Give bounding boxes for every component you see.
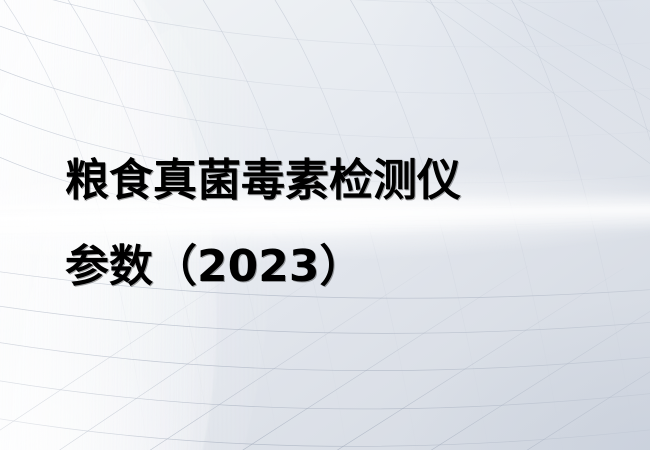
title-line-2: 参数（2023）	[65, 224, 585, 310]
promo-banner: 粮食真菌毒素检测仪 参数（2023）	[0, 0, 650, 450]
title-line-1: 粮食真菌毒素检测仪	[65, 138, 585, 224]
banner-title: 粮食真菌毒素检测仪 参数（2023）	[65, 138, 585, 310]
